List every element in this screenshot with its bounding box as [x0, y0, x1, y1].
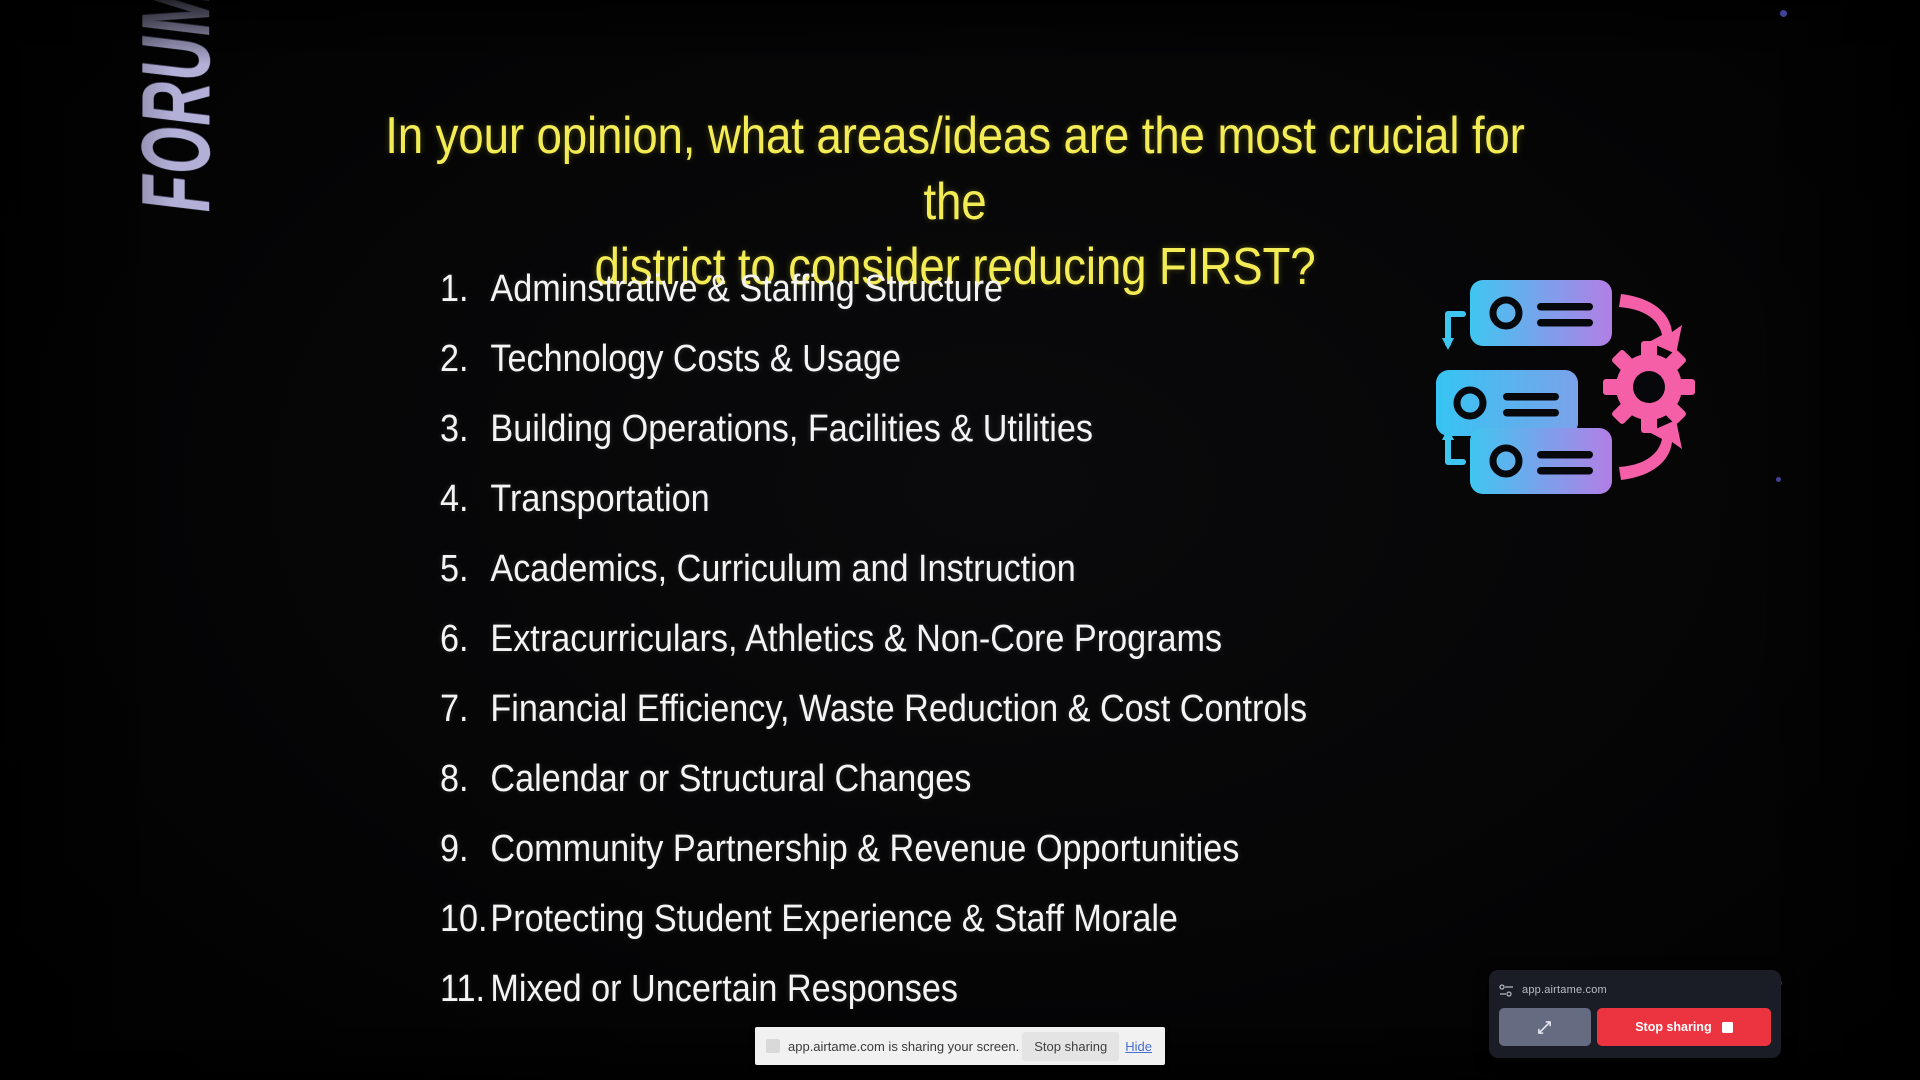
answer-label: Protecting Student Experience & Staff Mo…: [490, 898, 1178, 941]
airtame-domain-label: app.airtame.com: [1522, 984, 1607, 996]
presentation-slide: FORUM FEEDBACK RESULTS In your opinion, …: [0, 0, 1920, 1080]
expand-icon: [1537, 1020, 1552, 1035]
answer-number: 10.: [440, 898, 490, 941]
answer-number: 9.: [440, 828, 490, 871]
answer-list: 1.Adminstrative & Staffing Structure2.Te…: [440, 268, 1540, 1038]
stray-highlight-dot: [1780, 10, 1787, 17]
answer-label: Technology Costs & Usage: [490, 338, 901, 381]
answer-item: 5.Academics, Curriculum and Instruction: [440, 548, 1430, 618]
share-notification-message: app.airtame.com is sharing your screen.: [788, 1039, 1022, 1054]
server-workflow-graphic: [1418, 262, 1708, 512]
answer-number: 6.: [440, 618, 490, 661]
answer-label: Building Operations, Facilities & Utilit…: [490, 408, 1093, 451]
answer-number: 3.: [440, 408, 490, 451]
answer-label: Transportation: [490, 478, 709, 521]
answer-item: 6.Extracurriculars, Athletics & Non-Core…: [440, 618, 1430, 688]
answer-label: Community Partnership & Revenue Opportun…: [490, 828, 1239, 871]
vertical-banner: FORUM FEEDBACK RESULTS: [118, 0, 238, 212]
answer-number: 1.: [440, 268, 490, 311]
answer-number: 7.: [440, 688, 490, 731]
answer-item: 7.Financial Efficiency, Waste Reduction …: [440, 688, 1430, 758]
airtame-share-widget[interactable]: app.airtame.com Stop sharing: [1489, 970, 1781, 1058]
site-favicon: [766, 1039, 780, 1053]
answer-item: 8.Calendar or Structural Changes: [440, 758, 1430, 828]
answer-label: Adminstrative & Staffing Structure: [490, 268, 1003, 311]
answer-label: Calendar or Structural Changes: [490, 758, 971, 801]
stray-highlight-dot: [1776, 477, 1781, 482]
screen-share-notification-bar: app.airtame.com is sharing your screen. …: [755, 1027, 1165, 1065]
answer-item: 2.Technology Costs & Usage: [440, 338, 1430, 408]
answer-item: 4.Transportation: [440, 478, 1430, 548]
slide-title-line-1: In your opinion, what areas/ideas are th…: [379, 104, 1532, 235]
airtame-stop-sharing-button[interactable]: Stop sharing: [1597, 1008, 1771, 1046]
hide-link[interactable]: Hide: [1125, 1039, 1152, 1054]
answer-number: 4.: [440, 478, 490, 521]
answer-number: 5.: [440, 548, 490, 591]
answer-number: 8.: [440, 758, 490, 801]
answer-item: 10.Protecting Student Experience & Staff…: [440, 898, 1430, 968]
airtame-widget-header: app.airtame.com: [1499, 979, 1771, 1001]
answer-label: Academics, Curriculum and Instruction: [490, 548, 1075, 591]
stop-sharing-button[interactable]: Stop sharing: [1022, 1032, 1119, 1061]
answer-number: 2.: [440, 338, 490, 381]
answer-label: Extracurriculars, Athletics & Non-Core P…: [490, 618, 1222, 661]
answer-label: Mixed or Uncertain Responses: [490, 968, 958, 1011]
stop-square-icon: [1722, 1022, 1733, 1033]
answer-item: 1.Adminstrative & Staffing Structure: [440, 268, 1430, 338]
expand-button[interactable]: [1499, 1008, 1591, 1046]
airtame-stop-sharing-label: Stop sharing: [1635, 1020, 1711, 1034]
answer-item: 3.Building Operations, Facilities & Util…: [440, 408, 1430, 478]
answer-number: 11.: [440, 968, 490, 1011]
cast-icon: [1499, 984, 1514, 997]
answer-item: 9.Community Partnership & Revenue Opport…: [440, 828, 1430, 898]
answer-label: Financial Efficiency, Waste Reduction & …: [490, 688, 1307, 731]
airtame-widget-buttons: Stop sharing: [1499, 1008, 1771, 1046]
vertical-banner-text: FORUM FEEDBACK RESULTS: [130, 0, 226, 212]
